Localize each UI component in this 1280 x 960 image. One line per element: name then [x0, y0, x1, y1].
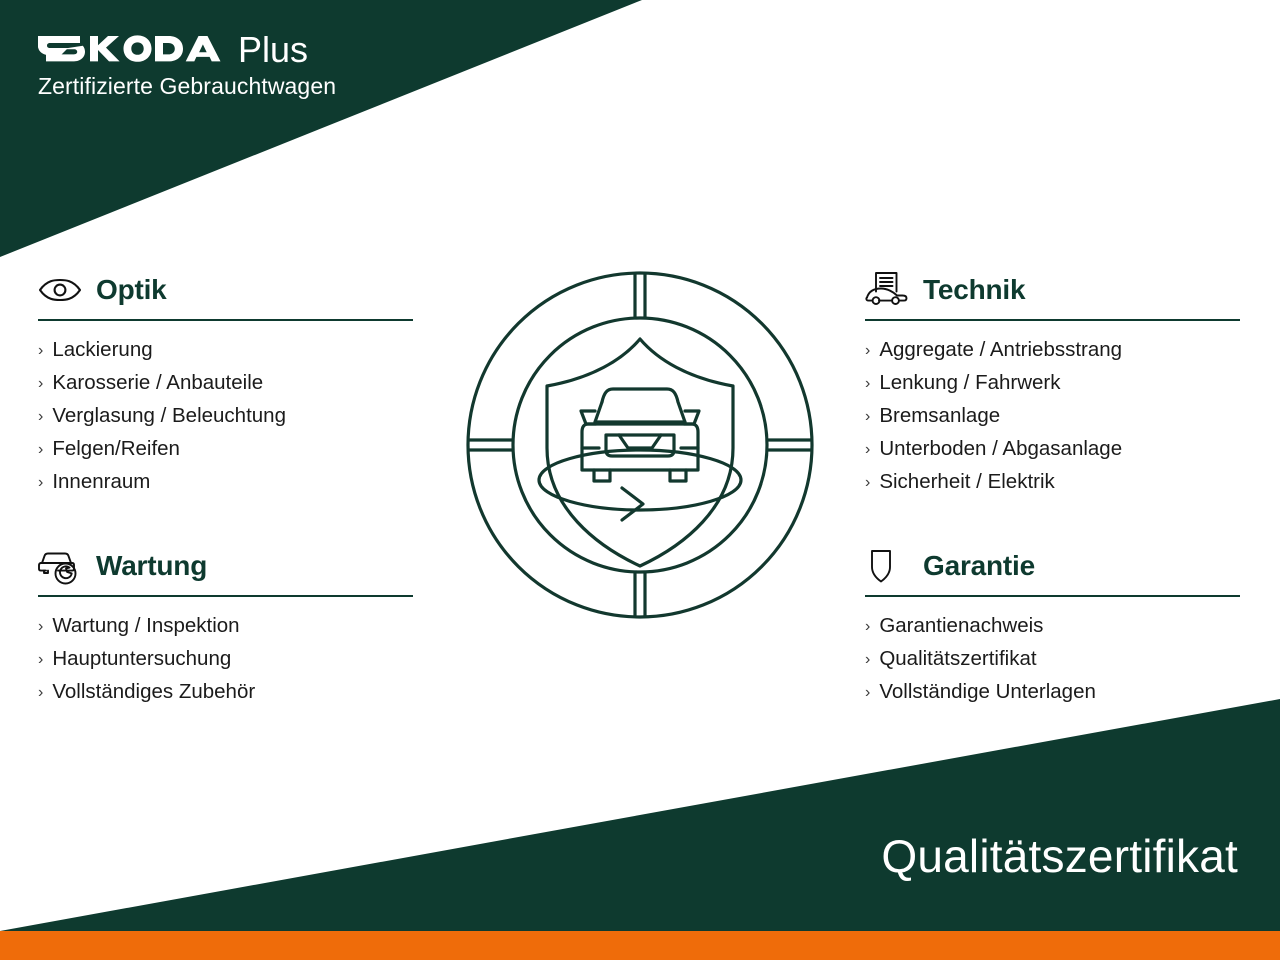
chevron-right-icon: › [865, 611, 870, 642]
car-wrench-icon [38, 546, 82, 586]
section-garantie-title: Garantie [923, 552, 1035, 580]
brand-tagline: Zertifizierte Gebrauchtwagen [38, 72, 336, 100]
list-item: › Felgen/Reifen [38, 433, 413, 466]
list-item-label: Lackierung [52, 334, 152, 365]
section-technik-title: Technik [923, 276, 1025, 304]
list-item-label: Verglasung / Beleuchtung [52, 400, 286, 431]
section-technik-divider [865, 319, 1240, 321]
section-technik-header: Technik [865, 268, 1240, 312]
chevron-right-icon: › [38, 401, 43, 432]
certificate-page: Plus Zertifizierte Gebrauchtwagen Optik … [0, 0, 1280, 960]
chevron-right-icon: › [865, 677, 870, 708]
orange-footer-bar [0, 931, 1280, 960]
section-garantie-divider [865, 595, 1240, 597]
section-optik-divider [38, 319, 413, 321]
list-item: › Hauptuntersuchung [38, 643, 413, 676]
list-item: › Bremsanlage [865, 400, 1240, 433]
section-garantie: Garantie › Garantienachweis › Qualitätsz… [865, 544, 1240, 709]
section-technik: Technik › Aggregate / Antriebsstrang › L… [865, 268, 1240, 499]
list-item-label: Bremsanlage [879, 400, 1000, 431]
chevron-right-icon: › [38, 677, 43, 708]
list-item: › Qualitätszertifikat [865, 643, 1240, 676]
section-garantie-list: › Garantienachweis › Qualitätszertifikat… [865, 610, 1240, 709]
logo-plus-label: Plus [238, 32, 308, 68]
section-optik-title: Optik [96, 276, 167, 304]
section-wartung-list: › Wartung / Inspektion › Hauptuntersuchu… [38, 610, 413, 709]
chevron-right-icon: › [38, 434, 43, 465]
list-item: › Vollständiges Zubehör [38, 676, 413, 709]
list-item-label: Garantienachweis [879, 610, 1043, 641]
section-wartung-header: Wartung [38, 544, 413, 588]
chevron-right-icon: › [865, 434, 870, 465]
list-item-label: Wartung / Inspektion [52, 610, 239, 641]
section-wartung-title: Wartung [96, 552, 207, 580]
chevron-right-icon: › [865, 644, 870, 675]
car-document-icon [865, 270, 909, 310]
list-item-label: Karosserie / Anbauteile [52, 367, 263, 398]
chevron-right-icon: › [38, 611, 43, 642]
chevron-right-icon: › [38, 467, 43, 498]
list-item: › Wartung / Inspektion [38, 610, 413, 643]
section-garantie-header: Garantie [865, 544, 1240, 588]
chevron-right-icon: › [865, 467, 870, 498]
list-item: › Aggregate / Antriebsstrang [865, 334, 1240, 367]
list-item: › Innenraum [38, 466, 413, 499]
list-item: › Unterboden / Abgasanlage [865, 433, 1240, 466]
chevron-right-icon: › [38, 368, 43, 399]
section-optik: Optik › Lackierung › Karosserie / Anbaut… [38, 268, 413, 499]
section-wartung: Wartung › Wartung / Inspektion › Hauptun… [38, 544, 413, 709]
list-item: › Verglasung / Beleuchtung [38, 400, 413, 433]
list-item-label: Aggregate / Antriebsstrang [879, 334, 1122, 365]
list-item: › Lackierung [38, 334, 413, 367]
eye-icon [38, 270, 82, 310]
list-item-label: Lenkung / Fahrwerk [879, 367, 1060, 398]
chevron-right-icon: › [38, 644, 43, 675]
chevron-right-icon: › [38, 335, 43, 366]
list-item-label: Unterboden / Abgasanlage [879, 433, 1122, 464]
list-item-label: Vollständige Unterlagen [879, 676, 1096, 707]
section-optik-list: › Lackierung › Karosserie / Anbauteile ›… [38, 334, 413, 499]
list-item: › Lenkung / Fahrwerk [865, 367, 1240, 400]
section-technik-list: › Aggregate / Antriebsstrang › Lenkung /… [865, 334, 1240, 499]
list-item: › Karosserie / Anbauteile [38, 367, 413, 400]
shield-icon [865, 546, 909, 586]
chevron-right-icon: › [865, 335, 870, 366]
list-item: › Garantienachweis [865, 610, 1240, 643]
skoda-wordmark-icon [38, 30, 225, 68]
logo-row: Plus [38, 26, 336, 68]
chevron-right-icon: › [865, 368, 870, 399]
brand-logo: Plus Zertifizierte Gebrauchtwagen [38, 26, 336, 100]
list-item-label: Qualitätszertifikat [879, 643, 1036, 674]
section-wartung-divider [38, 595, 413, 597]
list-item-label: Felgen/Reifen [52, 433, 180, 464]
chevron-right-icon: › [865, 401, 870, 432]
certified-vehicle-emblem [447, 252, 833, 638]
list-item: › Vollständige Unterlagen [865, 676, 1240, 709]
list-item-label: Innenraum [52, 466, 150, 497]
list-item: › Sicherheit / Elektrik [865, 466, 1240, 499]
section-optik-header: Optik [38, 268, 413, 312]
list-item-label: Vollständiges Zubehör [52, 676, 255, 707]
list-item-label: Hauptuntersuchung [52, 643, 231, 674]
list-item-label: Sicherheit / Elektrik [879, 466, 1054, 497]
footer-title: Qualitätszertifikat [881, 830, 1238, 882]
